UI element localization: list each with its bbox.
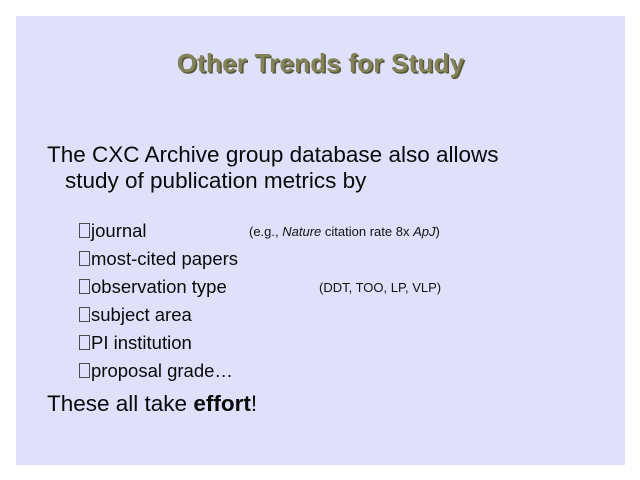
page-title: Other Trends for Study	[16, 48, 625, 79]
bullet-list: journal (e.g., Nature citation rate 8x A…	[16, 218, 625, 386]
bullet-box-icon	[79, 279, 90, 294]
slide-canvas: Other Trends for Study The CXC Archive g…	[16, 16, 625, 465]
list-item-label: proposal grade…	[91, 360, 233, 381]
list-item: observation type (DDT, TOO, LP, VLP)	[16, 274, 625, 302]
closing-suffix: !	[251, 391, 257, 416]
list-item-label: journal	[91, 220, 147, 241]
list-item-label: subject area	[91, 304, 192, 325]
list-item-note: (DDT, TOO, LP, VLP)	[319, 275, 441, 301]
note-journal-apj: ApJ	[413, 224, 435, 239]
note-prefix: (e.g.,	[249, 224, 282, 239]
closing-emphasis: effort	[193, 391, 251, 416]
list-item-label: observation type	[91, 276, 227, 297]
list-item: proposal grade…	[16, 358, 625, 386]
list-item-note: (e.g., Nature citation rate 8x ApJ)	[249, 219, 440, 245]
lead-line-2: study of publication metrics by	[47, 168, 592, 194]
list-item: journal (e.g., Nature citation rate 8x A…	[16, 218, 625, 246]
lead-line-1: The CXC Archive group database also allo…	[47, 142, 499, 167]
note-middle: citation rate 8x	[321, 224, 413, 239]
closing-prefix: These all take	[47, 391, 193, 416]
bullet-box-icon	[79, 251, 90, 266]
list-item-label: most-cited papers	[91, 248, 238, 269]
list-item: PI institution	[16, 330, 625, 358]
list-item-label: PI institution	[91, 332, 192, 353]
list-item: subject area	[16, 302, 625, 330]
bullet-box-icon	[79, 307, 90, 322]
closing-statement: These all take effort!	[47, 391, 257, 417]
bullet-box-icon	[79, 363, 90, 378]
bullet-box-icon	[79, 335, 90, 350]
note-journal-nature: Nature	[282, 224, 321, 239]
lead-paragraph: The CXC Archive group database also allo…	[47, 142, 592, 194]
bullet-box-icon	[79, 223, 90, 238]
list-item: most-cited papers	[16, 246, 625, 274]
note-suffix: )	[435, 224, 439, 239]
